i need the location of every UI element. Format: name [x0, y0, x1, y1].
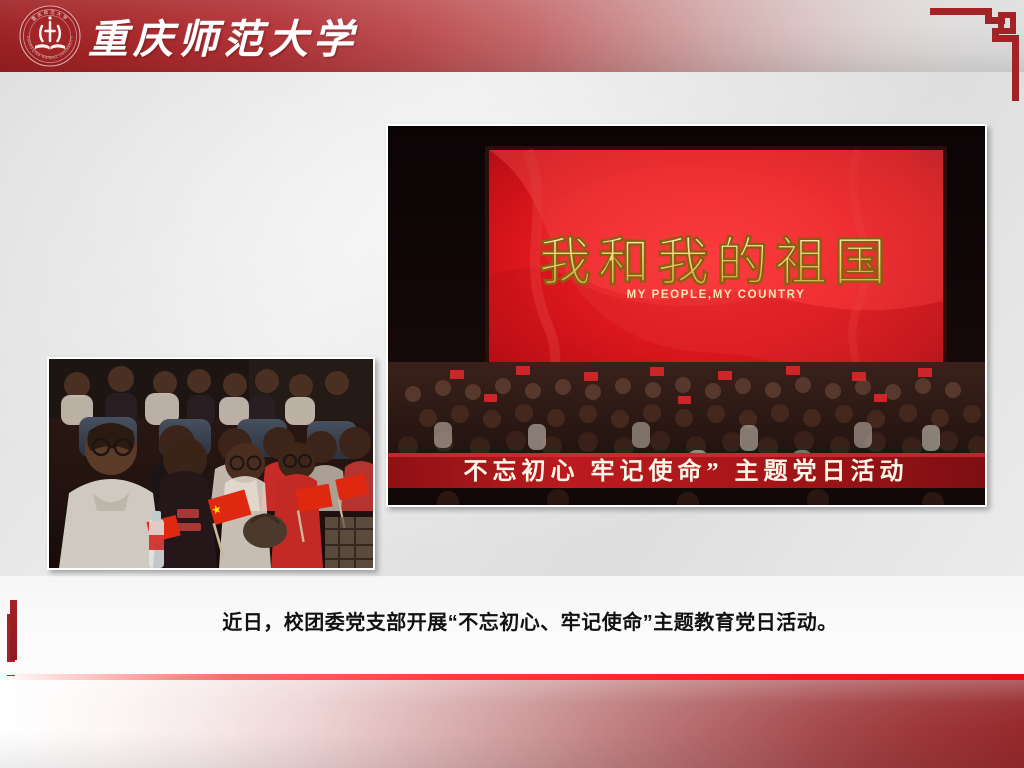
svg-text:MY PEOPLE,MY COUNTRY: MY PEOPLE,MY COUNTRY: [627, 289, 806, 301]
footer-decoration: [0, 662, 1024, 768]
footer-gradient-shade: [0, 676, 1024, 768]
university-name-title: 重庆师范大学: [88, 6, 358, 66]
photo-audience[interactable]: [47, 357, 375, 570]
university-seal-icon: 重庆师范大学 CHONGQING NORMAL UNIVERSITY: [18, 4, 82, 68]
photo-main-group[interactable]: 我和我的祖国 MY PEOPLE,MY COUNTRY: [386, 124, 987, 507]
caption-text: 近日，校团委党支部开展“不忘初心、牢记使命”主题教育党日活动。: [150, 606, 910, 635]
corner-ornament-top-right-icon: [914, 0, 1024, 106]
footer-highlight-line: [0, 674, 1024, 680]
svg-text:我和我的祖国: 我和我的祖国: [539, 234, 893, 292]
svg-text:不忘初心 牢记使命” 主题党日活动: 不忘初心 牢记使命” 主题党日活动: [464, 457, 909, 485]
caption-accent-bar: [10, 600, 17, 660]
presentation-slide: 重庆师范大学 CHONGQING NORMAL UNIVERSITY 重庆师范大…: [0, 0, 1024, 768]
